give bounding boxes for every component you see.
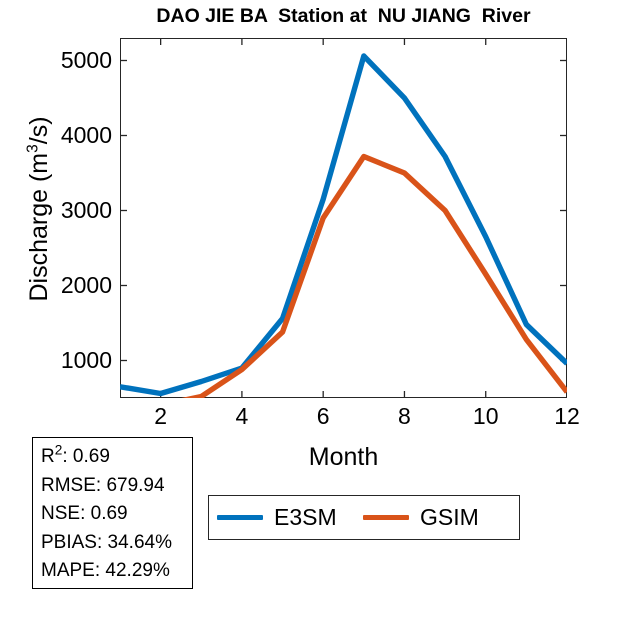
figure-canvas: DAO JIE BA Station at NU JIANG River 100… xyxy=(0,0,625,625)
y-tick-label-2000: 2000 xyxy=(4,274,112,297)
x-tick-label-12: 12 xyxy=(537,404,597,428)
stat-r2-value: : xyxy=(62,446,73,467)
legend-label-e3sm: E3SM xyxy=(274,506,337,529)
y-tick-label-3000: 3000 xyxy=(4,199,112,222)
y-axis-label-base: Discharge (m xyxy=(25,153,53,302)
stat-pbias: PBIAS: 34.64% xyxy=(41,529,192,558)
x-tick-label-8: 8 xyxy=(374,404,434,428)
legend-label-gsim: GSIM xyxy=(420,506,479,529)
stat-r2: R2: 0.69 xyxy=(41,443,192,472)
y-tick-label-1000: 1000 xyxy=(4,349,112,372)
x-tick-label-6: 6 xyxy=(293,404,353,428)
stat-r2-number: 0.69 xyxy=(73,446,110,467)
x-tick-label-10: 10 xyxy=(456,404,516,428)
legend-entry-e3sm[interactable]: E3SM xyxy=(217,496,337,539)
y-tick-label-5000: 5000 xyxy=(4,49,112,72)
stat-rmse: RMSE: 679.94 xyxy=(41,472,192,501)
stat-r2-label-base: R xyxy=(41,446,55,467)
legend-entry-gsim[interactable]: GSIM xyxy=(363,496,479,539)
series-line-e3sm xyxy=(120,56,567,394)
stat-mape: MAPE: 42.29% xyxy=(41,557,192,586)
y-axis-label-tail: /s) xyxy=(25,116,53,144)
legend-swatch-e3sm xyxy=(217,515,263,520)
legend-swatch-gsim xyxy=(363,515,409,520)
stat-nse: NSE: 0.69 xyxy=(41,500,192,529)
x-tick-label-2: 2 xyxy=(131,404,191,428)
y-axis-label-exponent: 3 xyxy=(25,144,42,153)
statistics-annotation-box: R2: 0.69 RMSE: 679.94 NSE: 0.69 PBIAS: 3… xyxy=(32,437,193,589)
axis-tick-marks xyxy=(120,38,567,398)
y-axis-label: Discharge (m3/s) xyxy=(25,29,53,389)
data-series-group xyxy=(120,56,567,398)
series-line-gsim xyxy=(120,157,567,399)
chart-title: DAO JIE BA Station at NU JIANG River xyxy=(120,4,567,28)
chart-legend: E3SM GSIM xyxy=(208,495,520,540)
x-tick-label-4: 4 xyxy=(212,404,272,428)
plot-area xyxy=(120,38,567,398)
y-tick-label-4000: 4000 xyxy=(4,124,112,147)
